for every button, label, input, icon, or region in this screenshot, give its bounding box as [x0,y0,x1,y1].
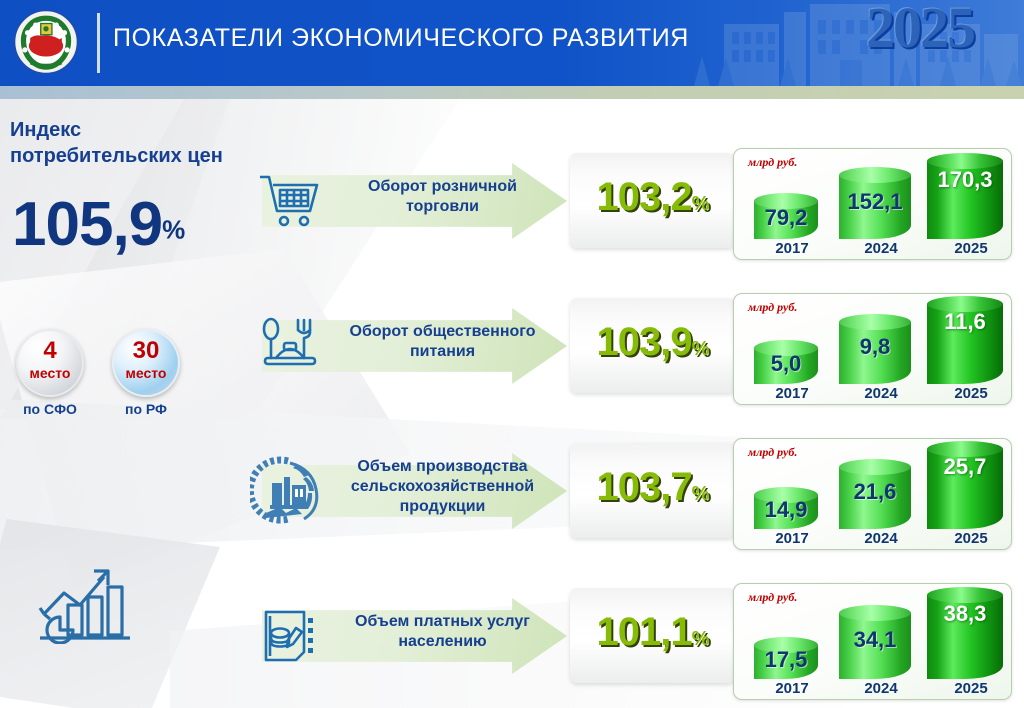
bar-group-2017: 5,0 2017 [750,340,822,402]
row-label-line2: сельскохозяйственной [330,477,555,497]
bar-top-ellipse [839,605,911,621]
bar-cylinder: 152,1 [839,167,911,239]
row-label-line1: Объем производства [330,457,555,477]
percent-sign: % [692,628,709,650]
bar-value-2017: 14,9 [754,497,818,523]
bar-value-2025: 38,3 [927,601,1003,627]
row-label-line1: Объем платных услуг [330,612,555,632]
row-label-retail-turnover: Оборот розничной торговли [330,177,555,217]
row-label-line1: Оборот розничной [330,177,555,197]
row-label-line2: питания [330,342,555,362]
bar-cylinder: 9,8 [839,314,911,384]
percent-box-retail-turnover: 103,2% [570,153,735,248]
row-label-line2: населению [330,632,555,652]
percent-number: 103,2 [597,175,692,219]
bar-year-2024: 2024 [834,385,928,402]
bar-year-2025: 2025 [924,385,1018,402]
percent-sign: % [692,338,709,360]
bar-value-2017: 5,0 [754,351,818,377]
bar-cylinder: 21,6 [839,459,911,529]
percent-number: 103,9 [597,320,692,364]
bar-year-2025: 2025 [924,530,1018,547]
agriculture-emblem-icon [250,455,328,525]
bar-top-ellipse [839,314,911,330]
bar-value-2025: 25,7 [927,454,1003,480]
bar-top-ellipse [839,459,911,475]
percent-number: 103,7 [597,465,692,509]
bar-year-2024: 2024 [834,680,928,697]
chart-bars: 17,5 2017 34,1 2024 38 [734,584,1011,699]
bar-chart-agriculture-output: млрд руб. 14,9 2017 21,6 [733,438,1012,550]
bar-year-2017: 2017 [750,530,834,547]
bar-value-2025: 170,3 [927,167,1003,193]
chart-bars: 5,0 2017 9,8 2024 11,6 [734,294,1011,404]
percent-value-paid-services: 101,1% [570,610,735,655]
header-divider [97,13,100,73]
percent-box-paid-services: 101,1% [570,588,735,683]
percent-sign: % [692,483,709,505]
chart-bars: 79,2 2017 152,1 2024 1 [734,149,1011,259]
bar-value-2024: 152,1 [839,189,911,215]
bar-group-2025: 38,3 2025 [924,587,1006,697]
bar-group-2025: 170,3 2025 [924,153,1006,257]
bar-cylinder: 11,6 [927,296,1003,384]
row-label-line1: Оборот общественного [330,322,555,342]
bar-chart-retail-turnover: млрд руб. 79,2 2017 152,1 [733,148,1012,260]
bar-group-2017: 17,5 2017 [750,637,822,697]
bar-top-ellipse [839,167,911,183]
bar-cylinder: 34,1 [839,605,911,679]
bar-chart-catering-turnover: млрд руб. 5,0 2017 9,8 2 [733,293,1012,405]
shopping-cart-icon [258,171,322,231]
row-label-line3: продукции [330,497,555,517]
bar-cylinder: 170,3 [927,153,1003,239]
bar-cylinder: 14,9 [754,487,818,529]
metric-row-catering-turnover: Оборот общественного питания 103,9% млрд… [0,282,1024,411]
percent-value-retail-turnover: 103,2% [570,175,735,220]
bar-group-2024: 34,1 2024 [834,605,916,697]
metric-row-agriculture-output: Объем производства сельскохозяйственной … [0,427,1024,556]
chart-bars: 14,9 2017 21,6 2024 25 [734,439,1011,549]
bar-cylinder: 38,3 [927,587,1003,679]
header-bottom-strip [0,86,1024,99]
bar-cylinder: 25,7 [927,441,1003,529]
bar-year-2024: 2024 [834,530,928,547]
row-label-agriculture-output: Объем производства сельскохозяйственной … [330,457,555,517]
percent-value-catering-turnover: 103,9% [570,320,735,365]
catering-dish-icon [258,316,322,376]
percent-value-agriculture-output: 103,7% [570,465,735,510]
bar-value-2025: 11,6 [927,309,1003,335]
bar-value-2024: 34,1 [839,627,911,653]
percent-sign: % [692,193,709,215]
bar-value-2017: 17,5 [754,647,818,673]
bar-cylinder: 17,5 [754,637,818,679]
bar-value-2017: 79,2 [754,205,818,231]
bar-year-2025: 2025 [924,680,1018,697]
bar-chart-paid-services: млрд руб. 17,5 2017 34,1 [733,583,1012,700]
percent-box-agriculture-output: 103,7% [570,443,735,538]
bar-year-2017: 2017 [750,385,834,402]
page-header: 2025 ПОКАЗАТЕЛИ ЭКОНОМИЧЕСКОГО РАЗВИТИЯ [0,0,1024,86]
bar-cylinder: 79,2 [754,193,818,239]
paid-services-icon [258,606,322,666]
row-label-paid-services: Объем платных услуг населению [330,612,555,652]
header-year: 2025 [866,0,974,61]
bar-value-2024: 21,6 [839,479,911,505]
metric-row-paid-services: Объем платных услуг населению 101,1% млр… [0,572,1024,701]
bar-year-2017: 2017 [750,680,834,697]
bar-group-2024: 9,8 2024 [834,314,916,402]
bar-group-2025: 25,7 2025 [924,441,1006,547]
bar-year-2024: 2024 [834,240,928,257]
bar-cylinder: 5,0 [754,340,818,384]
bar-group-2025: 11,6 2025 [924,296,1006,402]
bar-group-2024: 152,1 2024 [834,167,916,257]
khakassia-coat-of-arms-icon [13,9,79,75]
row-label-catering-turnover: Оборот общественного питания [330,322,555,362]
bar-value-2024: 9,8 [839,334,911,360]
bar-group-2017: 79,2 2017 [750,193,822,257]
bar-group-2017: 14,9 2017 [750,487,822,547]
metric-row-retail-turnover: Оборот розничной торговли 103,2% млрд ру… [0,137,1024,266]
percent-box-catering-turnover: 103,9% [570,298,735,393]
bar-year-2017: 2017 [750,240,834,257]
page-title: ПОКАЗАТЕЛИ ЭКОНОМИЧЕСКОГО РАЗВИТИЯ [113,24,689,53]
content-area: Индекс потребительских цен 105,9% 4 мест… [0,99,1024,708]
bar-year-2025: 2025 [924,240,1018,257]
percent-number: 101,1 [597,610,692,654]
bar-group-2024: 21,6 2024 [834,459,916,547]
row-label-line2: торговли [330,197,555,217]
